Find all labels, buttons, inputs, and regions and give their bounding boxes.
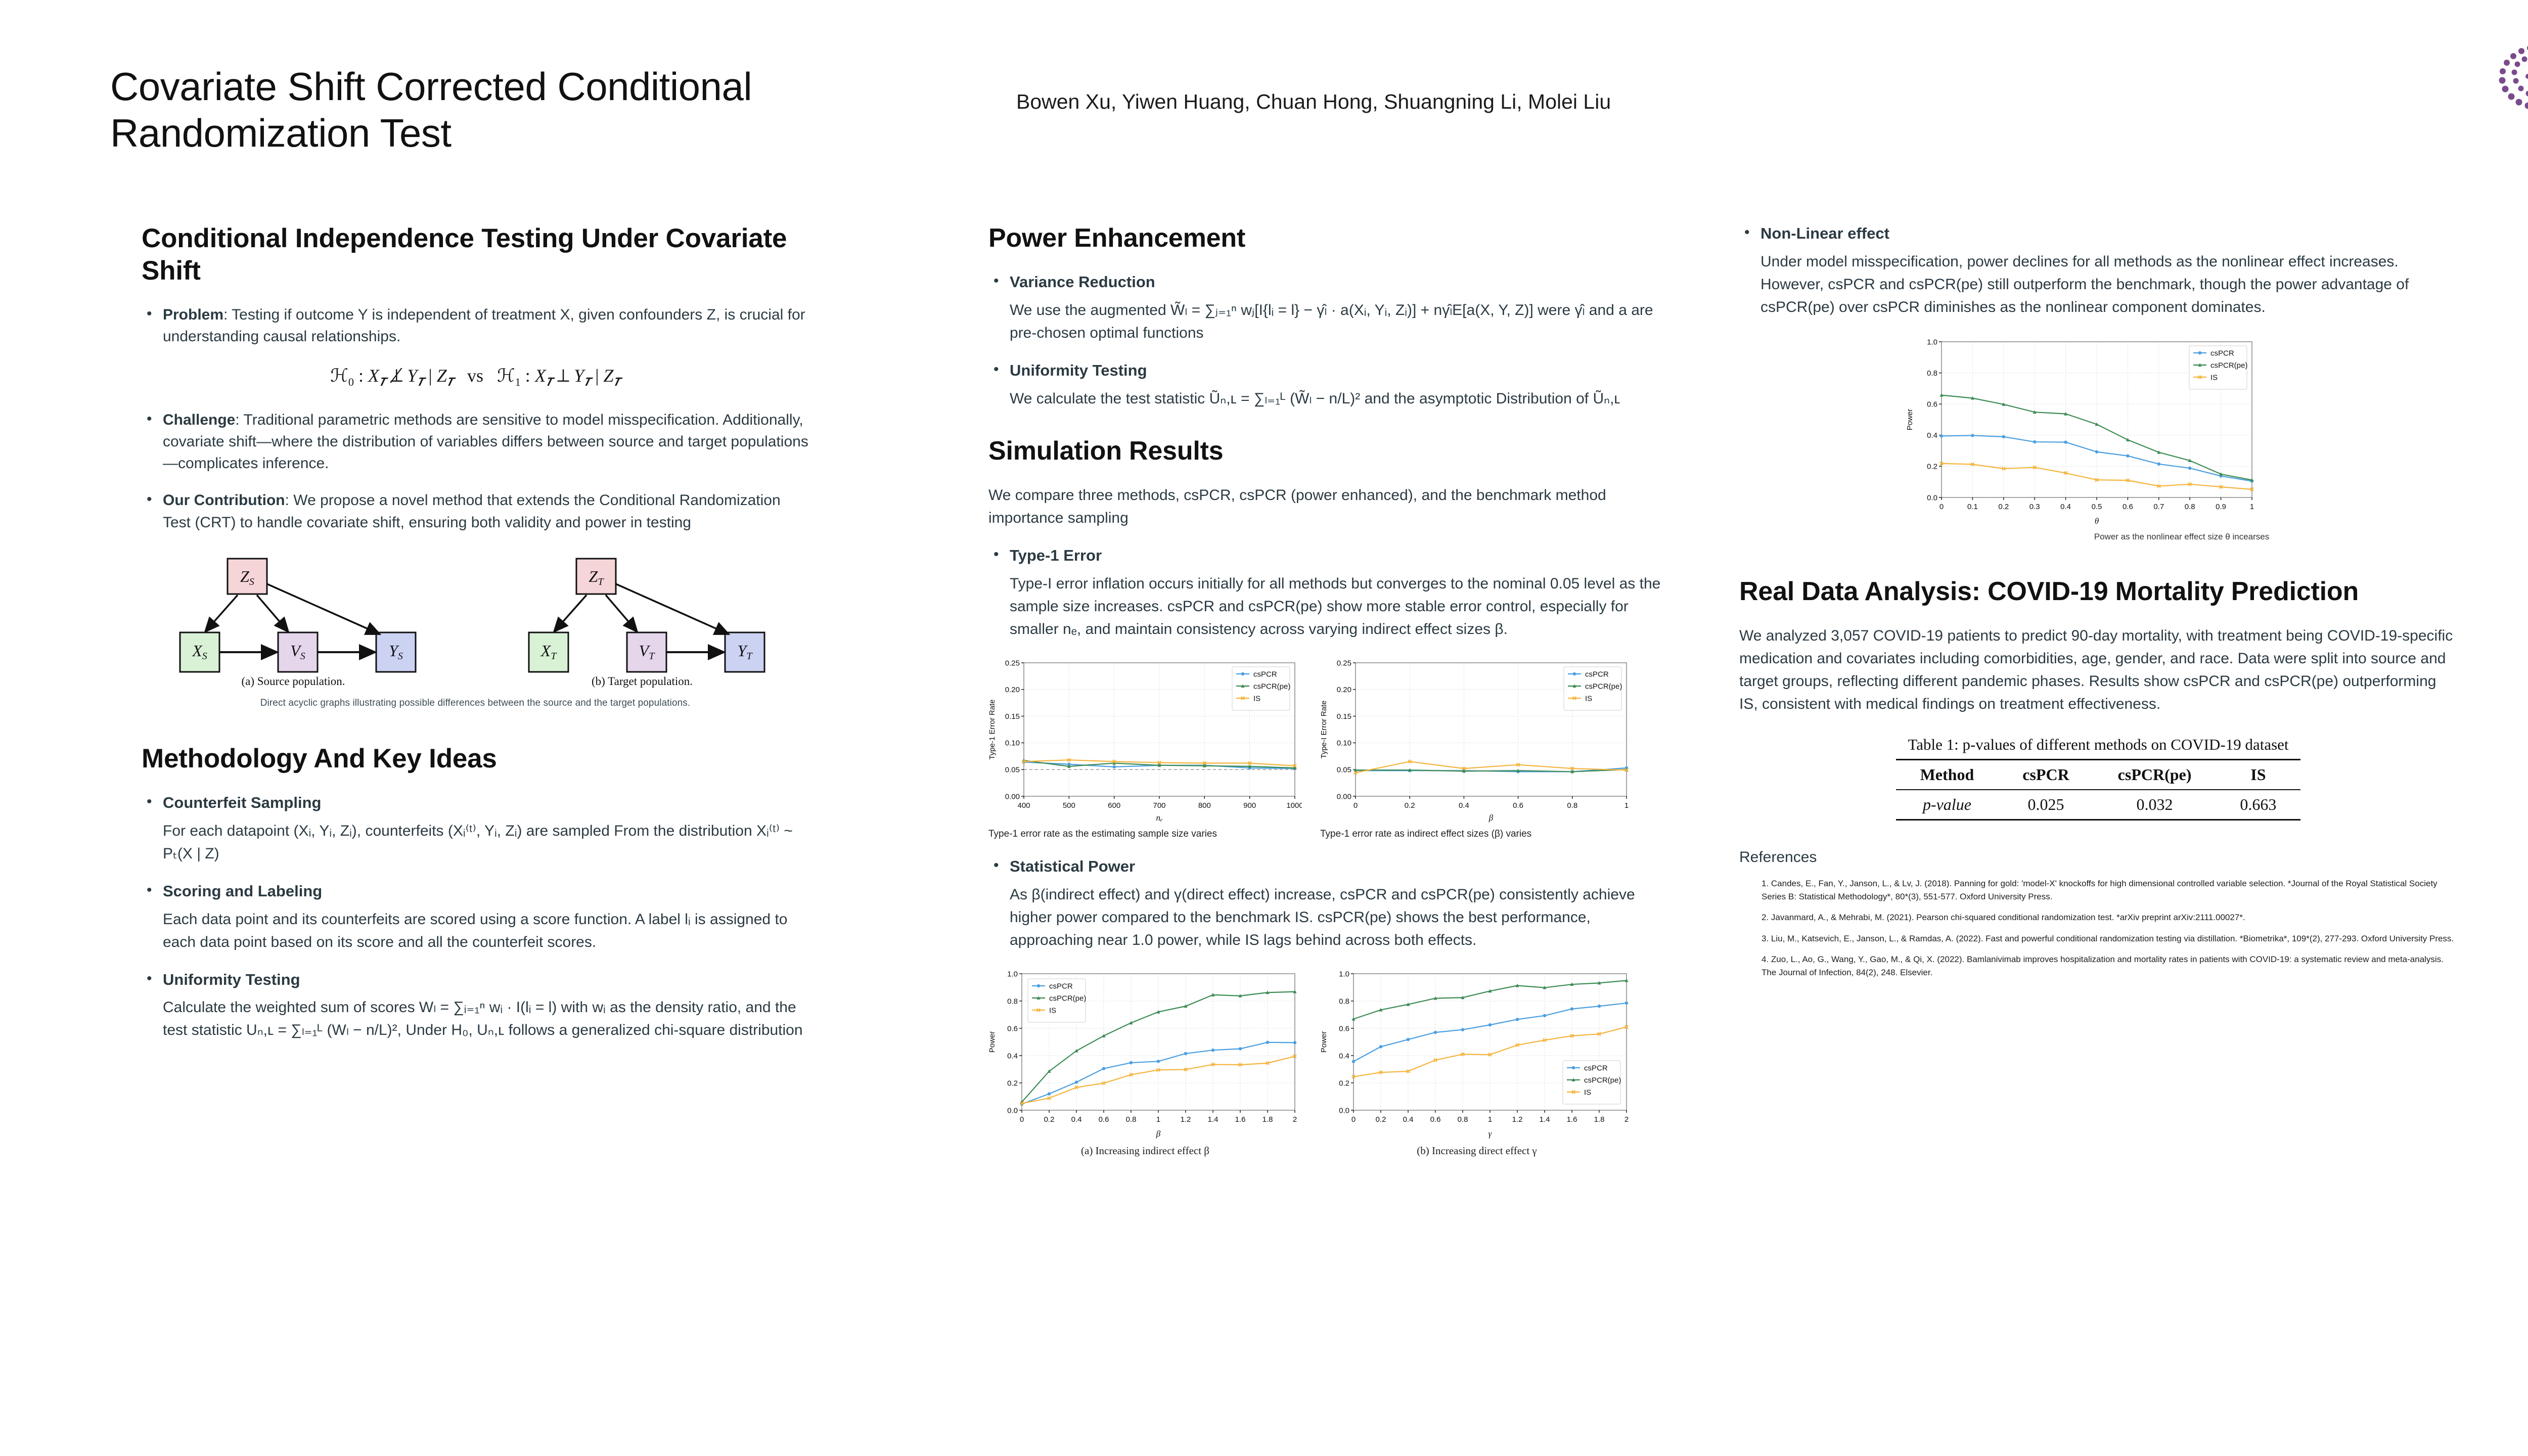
svg-text:0: 0 [1353,801,1358,810]
intro-bullet-list: Problem: Testing if outcome Y is indepen… [142,304,809,347]
svg-text:1.4: 1.4 [1540,1115,1550,1124]
table-header-cspcr: csPCR [1998,760,2093,790]
table-row: p-value 0.025 0.032 0.663 [1896,790,2301,820]
power-section-body: As β(indirect effect) and γ(direct effec… [1010,883,1661,951]
svg-text:700: 700 [1153,801,1165,810]
svg-text:0.6: 0.6 [1339,1024,1349,1033]
svg-text:0.00: 0.00 [1337,792,1351,801]
svg-text:1.2: 1.2 [1181,1115,1191,1124]
svg-text:400: 400 [1017,801,1030,810]
chart-power-gamma: 0.00.20.40.60.81.000.20.40.60.811.21.41.… [1320,967,1634,1158]
chart-caption-type1-ne: Type-1 error rate as the estimating samp… [988,828,1302,841]
dag-target: ZT XT VT YT (b) Target population. [529,559,764,688]
list-item-contribution: Our Contribution: We propose a novel met… [142,489,809,533]
svg-text:csPCR(pe): csPCR(pe) [1584,1076,1621,1084]
section-title-methodology: Methodology And Key Ideas [142,743,809,775]
svg-text:0.7: 0.7 [2153,503,2164,511]
dag-figure: ZS XS VS YS (a) Source population. [142,552,809,703]
svg-text:0.8: 0.8 [2185,503,2195,511]
svg-text:0.0: 0.0 [1927,493,1937,502]
svg-text:0.1: 0.1 [1967,503,1978,511]
middle-column: Power Enhancement Variance Reduction We … [988,222,1661,1158]
type1-head: Type-1 Error [1010,544,1661,567]
svg-text:csPCR(pe): csPCR(pe) [1049,994,1086,1003]
list-item-nonlinear-effect: Non-Linear effect Under model misspecifi… [1739,222,2457,318]
type1-chart-row: 0.000.050.100.150.200.254005006007008009… [988,656,1661,841]
methodology-head-2: Scoring and Labeling [163,880,809,903]
svg-text:0.8: 0.8 [1927,369,1937,377]
svg-text:0.0: 0.0 [1339,1106,1349,1115]
svg-text:1.8: 1.8 [1262,1115,1273,1124]
svg-text:0.4: 0.4 [1927,431,1937,440]
bullet-label-contribution: Our Contribution [163,492,285,509]
methodology-body-3: Calculate the weighted sum of scores Wₗ … [163,996,809,1041]
svg-text:β: β [1156,1129,1161,1139]
svg-text:0.2: 0.2 [1007,1079,1018,1087]
svg-text:0.2: 0.2 [1339,1079,1349,1087]
methodology-head-3: Uniformity Testing [163,969,809,991]
svg-text:csPCR: csPCR [1584,1064,1608,1072]
svg-text:0.8: 0.8 [1126,1115,1137,1124]
svg-text:0.6: 0.6 [1513,801,1523,810]
chart-caption-type1-beta: Type-1 error rate as indirect effect siz… [1320,828,1634,841]
neurips-dot-swirl-icon [2493,38,2528,124]
intro-bullet-list-2: Challenge: Traditional parametric method… [142,409,809,533]
chart-svg-power-beta: 0.00.20.40.60.81.000.20.40.60.811.21.41.… [988,967,1302,1139]
list-item-scoring-labeling: Scoring and Labeling Each data point and… [142,880,809,953]
svg-text:1: 1 [1624,801,1629,810]
methodology-list: Counterfeit Sampling For each datapoint … [142,792,809,1041]
svg-text:csPCR(pe): csPCR(pe) [2210,361,2247,370]
svg-text:0.20: 0.20 [1005,686,1020,694]
section-title-real-data-analysis: Real Data Analysis: COVID-19 Mortality P… [1739,576,2457,607]
svg-text:IS: IS [1585,694,1592,703]
svg-text:Type-I Error Rate: Type-I Error Rate [1320,700,1328,758]
left-column: Conditional Independence Testing Under C… [142,222,809,1057]
svg-text:0.2: 0.2 [1044,1115,1055,1124]
table-header-row: Method csPCR csPCR(pe) IS [1896,760,2301,790]
nonlinear-head: Non-Linear effect [1760,222,2457,245]
svg-text:Power: Power [988,1031,997,1053]
power-enhancement-list: Variance Reduction We use the augmented … [988,271,1661,409]
chart-svg-power-gamma: 0.00.20.40.60.81.000.20.40.60.811.21.41.… [1320,967,1634,1139]
svg-text:0.4: 0.4 [1071,1115,1082,1124]
author-list: Bowen Xu, Yiwen Huang, Chuan Hong, Shuan… [1016,88,1724,115]
list-item-reference: 3. Liu, M., Katsevich, E., Janson, L., &… [1746,932,2457,945]
power-body-1: We use the augmented W̃ₗ = ∑ⱼ₌₁ⁿ wⱼ[I{lᵢ… [1010,299,1661,344]
svg-text:1.6: 1.6 [1567,1115,1577,1124]
references-title: References [1739,849,2457,866]
svg-text:0.3: 0.3 [2029,503,2040,511]
poster-root: Covariate Shift Corrected Conditional Ra… [0,0,2528,1456]
methodology-body-1: For each datapoint (Xᵢ, Yᵢ, Zᵢ), counter… [163,820,809,865]
chart-caption-power-gamma: (b) Increasing direct effect γ [1320,1144,1634,1158]
svg-text:csPCR: csPCR [1253,670,1277,678]
svg-text:0.6: 0.6 [1430,1115,1441,1124]
list-item-reference: 4. Zuo, L., Ao, G., Wang, Y., Gao, M., &… [1746,953,2457,979]
dag-source-caption: (a) Source population. [241,675,345,688]
svg-text:0.4: 0.4 [2060,503,2071,511]
svg-text:600: 600 [1108,801,1120,810]
svg-text:900: 900 [1243,801,1256,810]
svg-text:2: 2 [1293,1115,1297,1124]
section-title-conditional-independence: Conditional Independence Testing Under C… [142,222,809,287]
table-cell-row-label: p-value [1896,790,1999,820]
svg-text:IS: IS [1049,1006,1056,1015]
svg-text:IS: IS [1253,694,1260,703]
svg-text:csPCR: csPCR [1049,982,1073,990]
chart-svg-type1-beta: 0.000.050.100.150.200.2500.20.40.60.81βT… [1320,656,1634,823]
list-item-reference: 2. Javanmard, A., & Mehrabi, M. (2021). … [1746,911,2457,924]
svg-text:1.0: 1.0 [1339,970,1349,978]
svg-text:0.6: 0.6 [1927,400,1937,408]
table-cell-is-value: 0.663 [2216,790,2300,820]
svg-text:0: 0 [1020,1115,1024,1124]
list-item-uniformity-testing: Uniformity Testing Calculate the weighte… [142,969,809,1042]
chart-nonlinear-theta: 0.00.20.40.60.81.000.10.20.30.40.50.60.7… [1906,334,2457,542]
hypothesis-formula: ℋ0 : X𝑻 ⟂̸ Y𝑻 | Z𝑻 vs ℋ1 : X𝑻 ⟂ Y𝑻 | Z𝑻 [142,365,809,389]
svg-text:0.25: 0.25 [1005,659,1020,667]
svg-text:0.05: 0.05 [1337,765,1351,774]
list-item-reference: 1. Candes, E., Fan, Y., Janson, L., & Lv… [1746,877,2457,903]
list-item-challenge: Challenge: Traditional parametric method… [142,409,809,475]
svg-text:0.2: 0.2 [1927,462,1937,471]
svg-text:0.0: 0.0 [1007,1106,1018,1115]
svg-text:0.4: 0.4 [1403,1115,1414,1124]
svg-text:500: 500 [1063,801,1075,810]
svg-text:0.15: 0.15 [1337,712,1351,721]
svg-text:1.2: 1.2 [1512,1115,1523,1124]
realdata-body: We analyzed 3,057 COVID-19 patients to p… [1739,624,2457,715]
power-body-2: We calculate the test statistic Ũₙ,ʟ = … [1010,387,1661,410]
svg-text:IS: IS [2210,373,2218,382]
list-item-uniformity-testing-pe: Uniformity Testing We calculate the test… [988,359,1661,410]
svg-text:csPCR(pe): csPCR(pe) [1253,682,1290,691]
table-header-method: Method [1896,760,1999,790]
chart-type1-beta: 0.000.050.100.150.200.2500.20.40.60.81βT… [1320,656,1634,841]
bullet-label-problem: Problem [163,306,223,323]
chart-caption-power-beta: (a) Increasing indirect effect β [988,1144,1302,1158]
methodology-body-2: Each data point and its counterfeits are… [163,908,809,953]
svg-text:0.6: 0.6 [1099,1115,1109,1124]
svg-text:csPCR(pe): csPCR(pe) [1585,682,1622,691]
table-cell-cspcr-value: 0.025 [1998,790,2093,820]
chart-svg-type1-ne: 0.000.050.100.150.200.254005006007008009… [988,656,1302,823]
references-list: 1. Candes, E., Fan, Y., Janson, L., & Lv… [1739,877,2457,979]
svg-text:Type-1 Error Rate: Type-1 Error Rate [988,699,997,759]
bullet-label-challenge: Challenge [163,412,235,428]
svg-text:θ: θ [2095,516,2099,526]
power-head-2: Uniformity Testing [1010,359,1661,382]
svg-text:0.8: 0.8 [1567,801,1577,810]
svg-text:Power: Power [1906,408,1914,430]
svg-text:IS: IS [1584,1088,1591,1097]
svg-text:1.0: 1.0 [1007,970,1018,978]
svg-text:0: 0 [1939,503,1944,511]
section-title-power-enhancement: Power Enhancement [988,222,1661,254]
chart-power-beta: 0.00.20.40.60.81.000.20.40.60.811.21.41.… [988,967,1302,1158]
svg-text:0: 0 [1351,1115,1356,1124]
section-title-simulation-results: Simulation Results [988,435,1661,467]
list-item-problem: Problem: Testing if outcome Y is indepen… [142,304,809,347]
covid-pvalue-table-wrap: Table 1: p-values of different methods o… [1739,736,2457,821]
svg-text:0.05: 0.05 [1005,765,1020,774]
svg-text:0.10: 0.10 [1005,739,1020,747]
svg-text:γ: γ [1488,1129,1493,1139]
dag-source: ZS XS VS YS (a) Source population. [180,559,416,688]
svg-text:1.6: 1.6 [1235,1115,1246,1124]
dag-svg: ZS XS VS YS (a) Source population. [142,552,809,688]
svg-text:0.2: 0.2 [1405,801,1415,810]
chart-caption-nonlinear-theta: Power as the nonlinear effect size θ inc… [1906,531,2457,542]
chart-svg-nonlinear-theta: 0.00.20.40.60.81.000.10.20.30.40.50.60.7… [1906,334,2260,526]
svg-text:0.4: 0.4 [1459,801,1469,810]
statistical-power-list: Statistical Power As β(indirect effect) … [988,855,1661,951]
svg-text:0.10: 0.10 [1337,739,1351,747]
nonlinear-list: Non-Linear effect Under model misspecifi… [1739,222,2457,318]
power-chart-row: 0.00.20.40.60.81.000.20.40.60.811.21.41.… [988,967,1661,1158]
svg-text:0.4: 0.4 [1339,1052,1349,1060]
neurips-logo: NEURAL INFORMATION PROCESSING SYSTEMS [2493,38,2528,124]
svg-text:0.9: 0.9 [2216,503,2226,511]
bullet-text-challenge: : Traditional parametric methods are sen… [163,412,808,472]
svg-text:0.8: 0.8 [1007,997,1018,1006]
svg-text:1: 1 [1156,1115,1160,1124]
svg-text:nₑ: nₑ [1156,813,1163,823]
svg-text:0.20: 0.20 [1337,686,1351,694]
svg-text:1: 1 [2250,503,2254,511]
list-item-counterfeit-sampling: Counterfeit Sampling For each datapoint … [142,792,809,865]
svg-text:1.4: 1.4 [1208,1115,1218,1124]
svg-text:1.8: 1.8 [1594,1115,1605,1124]
svg-text:800: 800 [1198,801,1211,810]
svg-text:csPCR: csPCR [1585,670,1609,678]
svg-text:0.00: 0.00 [1005,792,1020,801]
svg-text:0.6: 0.6 [1007,1024,1018,1033]
svg-text:0.2: 0.2 [1998,503,2009,511]
list-item-variance-reduction: Variance Reduction We use the augmented … [988,271,1661,344]
list-item-statistical-power: Statistical Power As β(indirect effect) … [988,855,1661,951]
type1-body: Type-I error inflation occurs initially … [1010,572,1661,641]
power-section-head: Statistical Power [1010,855,1661,878]
poster-header: Covariate Shift Corrected Conditional Ra… [0,0,2528,202]
svg-text:0.15: 0.15 [1005,712,1020,721]
bullet-text-problem: : Testing if outcome Y is independent of… [163,306,805,345]
svg-text:2: 2 [1624,1115,1629,1124]
svg-text:0.2: 0.2 [1376,1115,1386,1124]
power-head-1: Variance Reduction [1010,271,1661,294]
table-header-cspcr-pe: csPCR(pe) [2094,760,2216,790]
simulation-intro: We compare three methods, csPCR, csPCR (… [988,484,1661,529]
covid-pvalue-table: Method csPCR csPCR(pe) IS p-value 0.025 … [1896,759,2301,821]
list-item-type1-error: Type-1 Error Type-I error inflation occu… [988,544,1661,641]
dag-target-caption: (b) Target population. [592,675,693,688]
right-column: Non-Linear effect Under model misspecifi… [1739,222,2457,987]
table-header-is: IS [2216,760,2300,790]
svg-text:Power: Power [1320,1031,1328,1053]
table-cell-cspcr-pe-value: 0.032 [2094,790,2216,820]
svg-text:1.0: 1.0 [1927,338,1937,346]
svg-text:0.8: 0.8 [1458,1115,1468,1124]
chart-type1-ne: 0.000.050.100.150.200.254005006007008009… [988,656,1302,841]
methodology-head-1: Counterfeit Sampling [163,792,809,814]
svg-text:0.25: 0.25 [1337,659,1351,667]
svg-text:β: β [1488,813,1494,823]
table-title: Table 1: p-values of different methods o… [1739,736,2457,754]
svg-text:0.5: 0.5 [2092,503,2102,511]
type1-error-list: Type-1 Error Type-I error inflation occu… [988,544,1661,641]
page-title: Covariate Shift Corrected Conditional Ra… [110,63,899,156]
svg-text:0.8: 0.8 [1339,997,1349,1006]
svg-text:0.4: 0.4 [1007,1052,1018,1060]
svg-text:1000: 1000 [1286,801,1302,810]
nonlinear-body: Under model misspecification, power decl… [1760,250,2457,318]
svg-text:0.6: 0.6 [2123,503,2133,511]
svg-text:csPCR: csPCR [2210,349,2234,357]
svg-text:1: 1 [1488,1115,1492,1124]
dag-figure-caption: Direct acyclic graphs illustrating possi… [142,698,809,709]
